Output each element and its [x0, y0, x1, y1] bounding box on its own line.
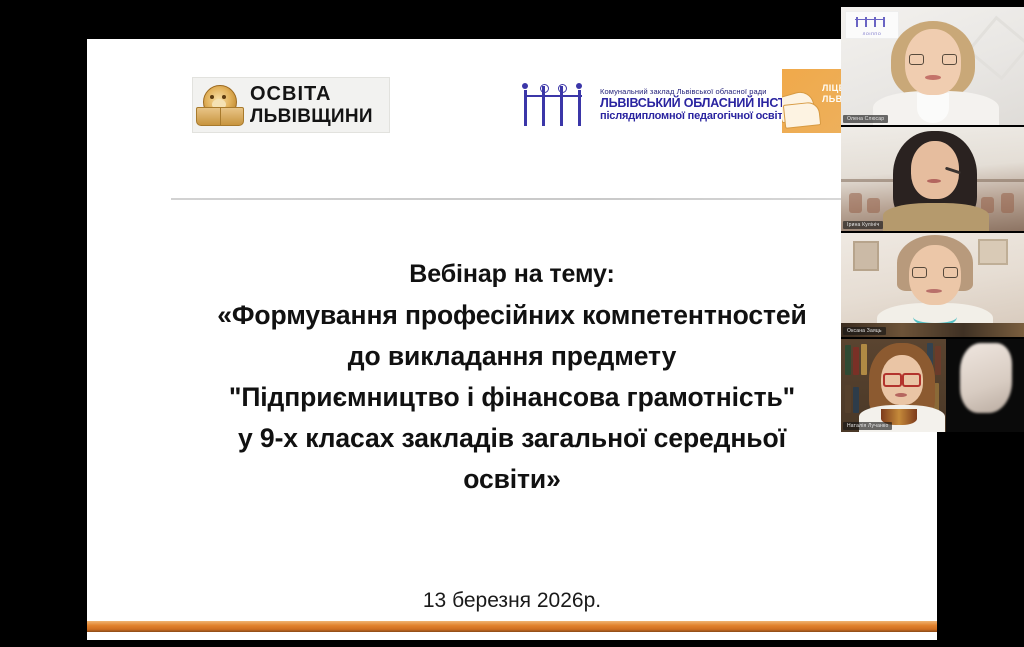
- logo-osvita-line2: ЛЬВІВЩИНИ: [250, 107, 373, 126]
- logo-row: ОСВІТА ЛЬВІВЩИНИ Комунальний заклад Льві…: [172, 69, 872, 149]
- participant-1-name: Олена Слюсар: [843, 115, 888, 123]
- logo-lviv-regional-institute: Комунальний заклад Львівської обласної р…: [520, 77, 772, 133]
- itti-mark-icon: [520, 82, 596, 128]
- participant-tile-2[interactable]: Ірина Кулініч: [841, 127, 1024, 231]
- itti-banner-icon: ЛОІППО: [845, 11, 899, 39]
- participant-2-name: Ірина Кулініч: [843, 221, 883, 229]
- participant-2-video: [841, 127, 1024, 231]
- participant-tile-4[interactable]: Наталія Лучанко: [841, 339, 1024, 432]
- participant-4-name: Наталія Лучанко: [843, 422, 892, 430]
- monitor-overlay: [946, 339, 1024, 432]
- lion-on-open-book-icon: [196, 82, 242, 128]
- slide-title-block: Вебінар на тему: «Формування професійних…: [87, 254, 937, 500]
- title-line-3: до викладання предмету: [87, 336, 937, 377]
- title-line-1: Вебінар на тему:: [87, 254, 937, 295]
- slide-accent-bar: [87, 621, 937, 632]
- participant-tile-1[interactable]: ЛОІППО Олена Слюсар: [841, 7, 1024, 125]
- slide-date: 13 березня 2026р.: [87, 589, 937, 613]
- participant-tile-3[interactable]: Оксана Заяць: [841, 233, 1024, 337]
- title-line-4: "Підприємництво і фінансова грамотність": [87, 377, 937, 418]
- participant-3-video: [841, 233, 1024, 337]
- participant-4-video: [841, 339, 1024, 432]
- participant-1-video: ЛОІППО: [841, 7, 1024, 125]
- presentation-slide: ОСВІТА ЛЬВІВЩИНИ Комунальний заклад Льві…: [87, 39, 937, 640]
- video-participants-panel: ЛОІППО Олена Слюсар Ірина Кулініч: [841, 7, 1024, 432]
- participant-3-name: Оксана Заяць: [843, 327, 886, 335]
- red-eyeglasses-icon: [883, 373, 921, 382]
- eyeglasses-icon: [909, 54, 957, 63]
- horizontal-divider: [171, 198, 937, 200]
- logo-osvita-line1: ОСВІТА: [250, 84, 373, 104]
- title-line-5: у 9-х класах закладів загальної середньо…: [87, 418, 937, 459]
- eyeglasses-icon: [912, 267, 958, 276]
- title-line-6: освіти»: [87, 459, 937, 500]
- title-line-2: «Формування професійних компетентностей: [87, 295, 937, 336]
- logo-osvita-lvivshchyny: ОСВІТА ЛЬВІВЩИНИ: [192, 77, 390, 133]
